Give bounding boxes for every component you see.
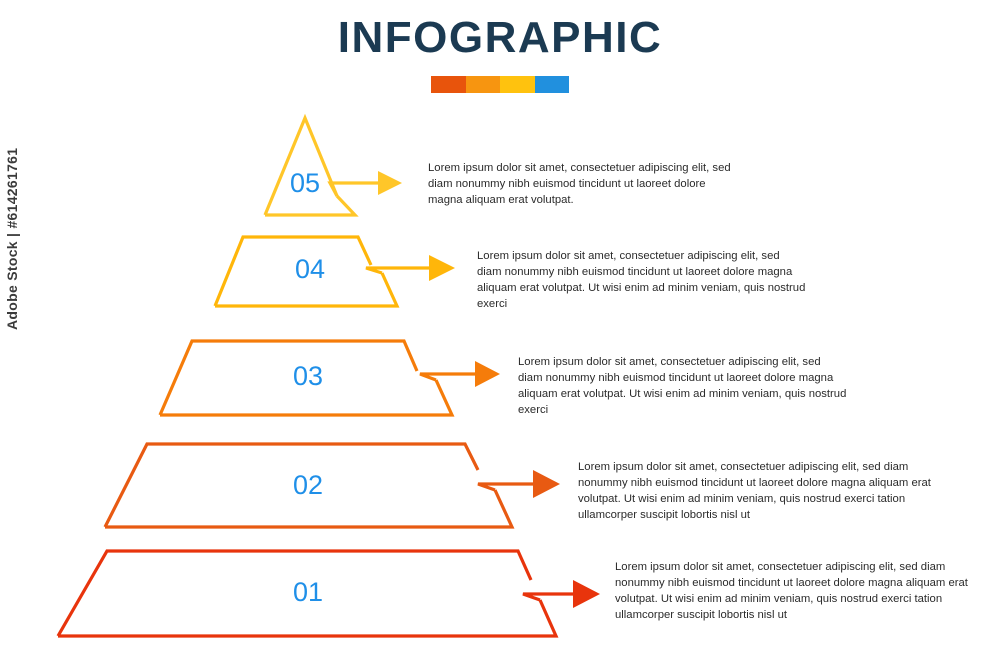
level-03-arrow-tail <box>420 374 478 380</box>
pyramid-level-03[interactable]: 03 <box>160 341 500 415</box>
level-05-arrowhead <box>378 171 402 195</box>
level-02-arrow-tail <box>478 484 536 490</box>
level-01-arrowhead <box>573 580 600 608</box>
stock-watermark: Adobe Stock | #614261761 <box>4 148 20 330</box>
level-05-number: 05 <box>290 168 320 198</box>
infographic-canvas: INFOGRAPHIC 05 04 <box>0 0 1000 667</box>
level-02-description: Lorem ipsum dolor sit amet, consectetuer… <box>578 459 946 523</box>
level-01-description: Lorem ipsum dolor sit amet, consectetuer… <box>615 559 983 623</box>
level-03-shape[interactable] <box>160 341 417 415</box>
level-05-shape-base <box>265 196 355 215</box>
level-02-arrowhead <box>533 470 560 498</box>
level-05-arrow-tail <box>330 183 381 196</box>
pyramid-level-01[interactable]: 01 <box>58 551 600 636</box>
level-02-shape[interactable] <box>105 444 478 527</box>
level-05-shape[interactable] <box>265 118 337 215</box>
level-03-arrowhead <box>475 361 500 387</box>
pyramid-level-02[interactable]: 02 <box>105 444 560 527</box>
level-02-number: 02 <box>293 470 323 500</box>
level-04-arrow-tail <box>366 268 432 273</box>
level-03-number: 03 <box>293 361 323 391</box>
pyramid-level-04[interactable]: 04 <box>215 237 455 306</box>
level-01-arrow-tail <box>523 594 576 600</box>
level-04-shape[interactable] <box>215 237 371 306</box>
level-04-arrowhead <box>429 255 455 281</box>
level-04-number: 04 <box>295 254 325 284</box>
level-04-description: Lorem ipsum dolor sit amet, consectetuer… <box>477 248 807 312</box>
level-05-description: Lorem ipsum dolor sit amet, consectetuer… <box>428 160 743 208</box>
level-01-number: 01 <box>293 577 323 607</box>
pyramid-level-05[interactable]: 05 <box>265 118 402 215</box>
level-03-description: Lorem ipsum dolor sit amet, consectetuer… <box>518 354 848 418</box>
